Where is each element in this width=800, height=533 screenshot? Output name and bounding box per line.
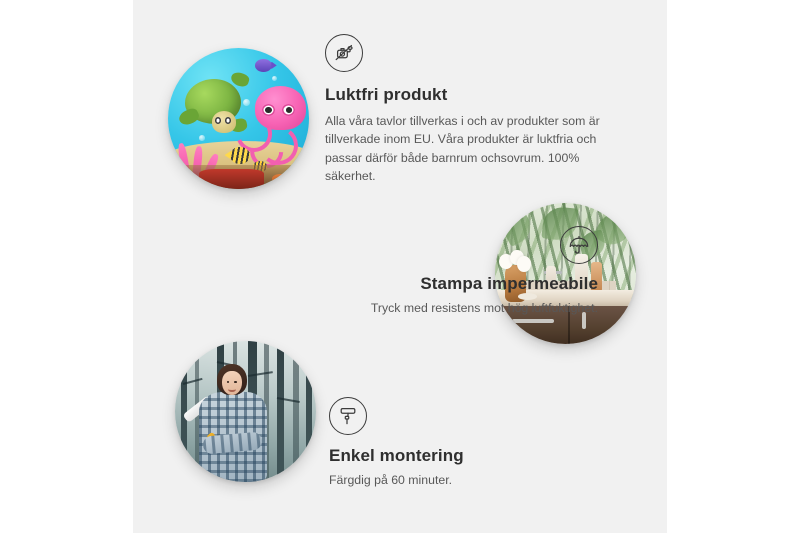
drawer-handle-icon — [512, 319, 554, 323]
umbrella-icon — [560, 226, 598, 264]
bubble-icon — [243, 99, 250, 106]
feature-waterproof-icon-wrap — [213, 226, 598, 273]
no-odor-perfume-icon — [325, 34, 363, 72]
octopus-eye — [262, 104, 275, 116]
seabed-object — [199, 169, 264, 189]
feature-mounting-title: Enkel montering — [329, 445, 619, 466]
turtle-head — [212, 111, 236, 132]
feature-mounting: Enkel montering Färgdig på 60 minuter. — [329, 397, 619, 489]
underwater-artwork — [168, 48, 309, 189]
woman-face — [222, 371, 242, 395]
paint-roller-icon — [329, 397, 367, 435]
forest-artwork — [175, 341, 316, 482]
feature-waterproof: Stampa impermeabile Tryck med resistens … — [213, 226, 598, 317]
feature-odorless: Luktfri produkt Alla våra tavlor tillver… — [325, 34, 625, 185]
image-decorator-forest-wallpaper[interactable] — [175, 341, 316, 482]
yellow-striped-fish-icon — [230, 147, 250, 164]
promo-panel: Luktfri produkt Alla våra tavlor tillver… — [133, 0, 667, 533]
feature-odorless-body: Alla våra tavlor tillverkas i och av pro… — [325, 112, 625, 185]
smile-icon — [228, 387, 236, 392]
eye-icon — [234, 381, 237, 383]
screenshot-root: Luktfri produkt Alla våra tavlor tillver… — [0, 0, 800, 533]
octopus-eye — [282, 104, 295, 116]
eye-icon — [227, 381, 230, 383]
feature-waterproof-body: Tryck med resistens mot hög luftfuktighe… — [213, 299, 598, 317]
feature-mounting-body: Färgdig på 60 minuter. — [329, 471, 619, 489]
feature-odorless-title: Luktfri produkt — [325, 84, 625, 105]
feature-mounting-icon-wrap — [329, 397, 619, 435]
seabed-object — [272, 174, 300, 190]
feature-waterproof-title: Stampa impermeabile — [213, 273, 598, 294]
image-underwater-cartoon-mural[interactable] — [168, 48, 309, 189]
feature-odorless-icon-wrap — [325, 34, 625, 72]
